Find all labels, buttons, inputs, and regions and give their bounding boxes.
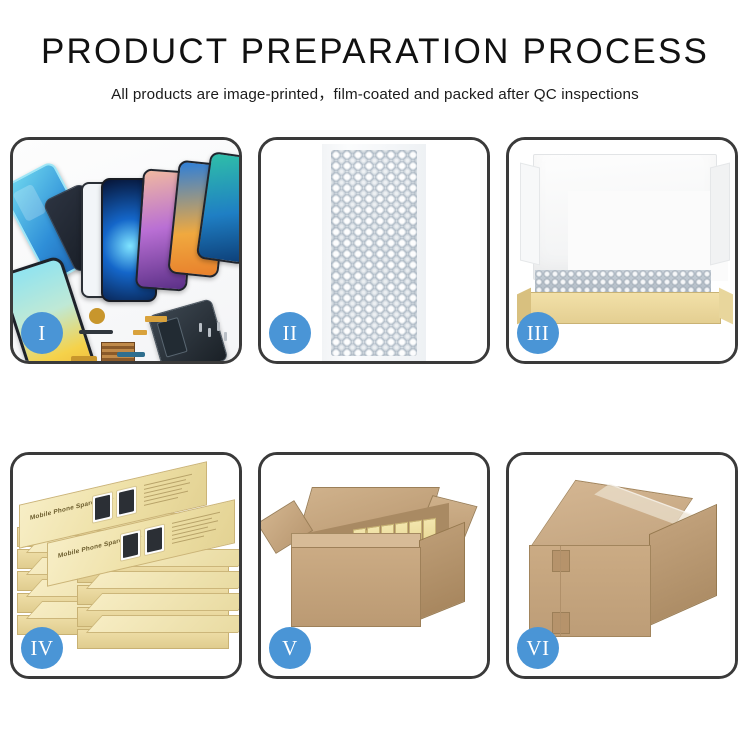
foam-lining-icon — [568, 191, 728, 281]
page-subtitle: All products are image-printed，film-coat… — [0, 82, 750, 104]
carton-side-panel — [419, 522, 465, 621]
step-badge-6: VI — [517, 627, 559, 669]
infographic-page: PRODUCT PREPARATION PROCESS All products… — [0, 0, 750, 750]
box-screen-photo-a — [92, 491, 113, 524]
step-panel-1: I — [10, 137, 242, 364]
flex-cable-icon — [145, 316, 167, 322]
step-panel-3: III — [506, 137, 738, 364]
step-panel-5: V — [258, 452, 490, 679]
box-screen-photo-b — [116, 485, 137, 518]
sealed-carton-icon — [529, 489, 721, 639]
carton-front-face — [529, 545, 651, 637]
carton-seam-tab-top — [552, 550, 570, 572]
yellow-tray-icon — [529, 292, 721, 324]
step-badge-1: I — [21, 312, 63, 354]
process-step-grid: I II III — [10, 137, 740, 679]
box-spec-lines-lower — [172, 511, 224, 549]
ribbon-connector-icon — [117, 352, 145, 357]
step-badge-4: IV — [21, 627, 63, 669]
bubble-wrap-icon — [331, 150, 417, 356]
speaker-coil-icon — [89, 308, 105, 324]
box-spec-lines-upper — [144, 473, 196, 511]
step-badge-5: V — [269, 627, 311, 669]
step-panel-4: Mobile Phone Spare Parts Mobile Phone Sp… — [10, 452, 242, 679]
page-title: PRODUCT PREPARATION PROCESS — [0, 34, 750, 69]
step-badge-3: III — [517, 312, 559, 354]
box-screen-photo-c — [120, 529, 141, 562]
antenna-flex-icon — [71, 356, 97, 361]
box-screen-photo-d — [144, 523, 165, 556]
header: PRODUCT PREPARATION PROCESS All products… — [0, 0, 750, 104]
step-panel-2: II — [258, 137, 490, 364]
carton-front-seam — [560, 546, 561, 636]
step-panel-6: VI — [506, 452, 738, 679]
carton-front-panel — [291, 547, 421, 627]
earpiece-mesh-icon — [79, 330, 113, 334]
flex-cable-small-icon — [133, 330, 147, 335]
screws-group-icon — [197, 321, 231, 347]
tray-right-edge — [719, 288, 733, 325]
carton-seam-tab-bottom — [552, 612, 570, 634]
white-box-lid-icon — [533, 154, 717, 280]
step-badge-2: II — [269, 312, 311, 354]
open-carton-icon — [291, 503, 451, 623]
